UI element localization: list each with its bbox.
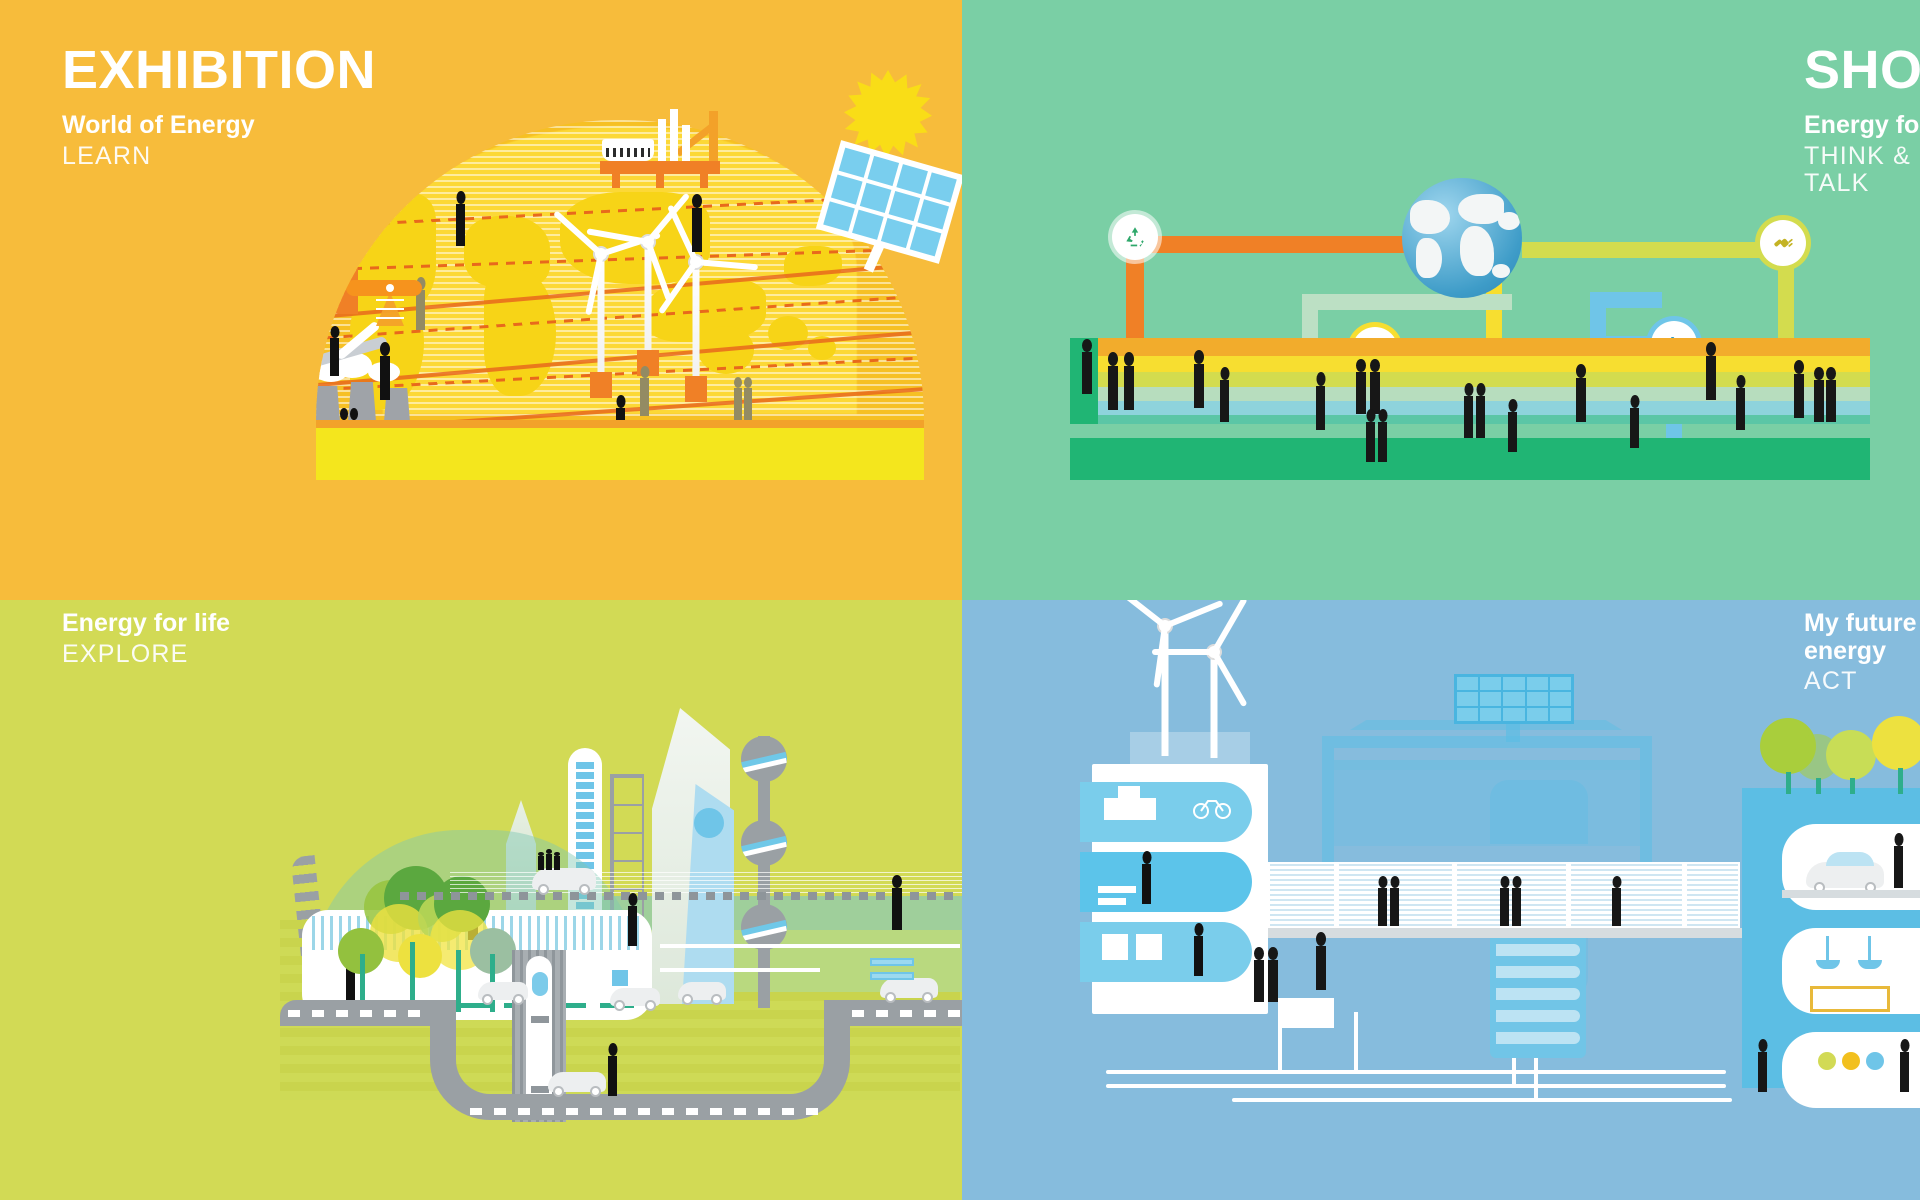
turbine-haze <box>1130 732 1250 764</box>
circuit-node <box>634 972 646 984</box>
resident-silhouette <box>1894 846 1903 888</box>
pendant-lamp <box>1868 936 1871 962</box>
audience-silhouette <box>1814 380 1824 422</box>
panel-ride[interactable]: RIDE Energy for life EXPLORE <box>0 600 962 1200</box>
visitor-silhouette <box>330 338 339 376</box>
audience-silhouette <box>1366 422 1375 462</box>
car-canopy <box>1826 852 1874 866</box>
circuit-node <box>870 958 914 966</box>
show-subtitle: Energy for all <box>1804 112 1920 140</box>
circuit-line <box>660 944 960 948</box>
circuit-line <box>660 968 820 972</box>
monorail-track <box>400 892 960 900</box>
pendant-lamp <box>1826 936 1829 962</box>
stair-step <box>1496 1010 1580 1022</box>
road-dashes <box>470 1108 820 1115</box>
recycling-icon <box>1112 214 1158 260</box>
audience-silhouette <box>1630 408 1639 448</box>
visitor-silhouette <box>416 290 425 330</box>
plug-icon <box>1760 220 1806 266</box>
pedestrian-silhouette <box>1512 888 1521 926</box>
passenger-silhouette <box>554 856 560 870</box>
glassware <box>1866 1052 1884 1070</box>
visitor-silhouette <box>628 906 637 946</box>
visitor-silhouette <box>692 208 702 252</box>
panel-exhibition[interactable]: EXHIBITION World of Energy LEARN <box>0 0 962 600</box>
tree-stem <box>1898 768 1903 794</box>
visitor-silhouette <box>640 378 649 416</box>
resident-silhouette <box>1142 864 1151 904</box>
page-title-show: SHOW <box>1804 42 1920 98</box>
show-text-block: SHOW Energy for all THINK & TALK <box>1804 42 1920 198</box>
power-cable-riser <box>1512 1058 1516 1088</box>
furniture-shape <box>1102 934 1128 960</box>
circuit-node <box>612 970 628 986</box>
ride-illustration <box>280 700 960 1100</box>
skyscraper-porthole <box>694 808 724 838</box>
passenger-silhouette <box>546 854 552 870</box>
audience-silhouette <box>1124 366 1134 410</box>
audience-silhouette <box>1356 372 1366 414</box>
audience-silhouette <box>1736 388 1745 430</box>
glass-frame <box>1322 736 1652 748</box>
audience-silhouette <box>1706 356 1716 400</box>
road-loop <box>430 1000 850 1120</box>
stage-base <box>1070 438 1870 480</box>
audience-silhouette <box>1826 380 1836 422</box>
ride-verb: EXPLORE <box>62 641 230 669</box>
furniture-shape <box>1104 798 1156 820</box>
visitor-silhouette <box>380 356 390 400</box>
tree-canopy <box>398 934 442 978</box>
dome-base-rim <box>316 420 924 428</box>
exhibition-subtitle: World of Energy <box>62 112 376 140</box>
exhibition-text-block: EXHIBITION World of Energy LEARN <box>62 42 376 170</box>
resident-silhouette <box>1900 1052 1909 1092</box>
power-cable-riser <box>1534 1058 1538 1098</box>
power-cable-riser <box>1278 1020 1282 1074</box>
glassware <box>1842 1052 1860 1070</box>
exhibition-verb: LEARN <box>62 143 376 171</box>
audience-silhouette <box>1476 396 1485 438</box>
bridge-deck <box>1268 928 1754 938</box>
tree-stem <box>1850 778 1855 794</box>
solar-mast <box>1506 724 1520 742</box>
game-illustration <box>1082 600 1920 1200</box>
pearl-node <box>741 736 787 782</box>
exhibition-illustration <box>300 60 940 480</box>
audience-silhouette <box>1316 386 1325 430</box>
wind-turbine <box>578 248 624 398</box>
panel-game[interactable]: GAME My future energy ACT <box>962 600 1920 1200</box>
visitor-silhouette <box>616 408 625 420</box>
hover-car <box>678 982 726 1000</box>
elevator-window <box>532 972 548 996</box>
bridge-post <box>1334 862 1339 928</box>
furniture-shape <box>1098 886 1136 893</box>
hover-car <box>478 982 528 1000</box>
resident-silhouette <box>1316 946 1326 990</box>
game-text-block: GAME My future energy ACT <box>1804 600 1920 696</box>
resident-silhouette <box>1254 960 1264 1002</box>
furniture-shape <box>1136 934 1162 960</box>
audience-silhouette <box>1108 366 1118 410</box>
garage-floor <box>1782 890 1920 898</box>
wind-turbine <box>676 256 716 402</box>
pipe-pale <box>1302 294 1512 310</box>
furniture-shape <box>1118 786 1140 800</box>
glass-pod <box>1490 780 1588 844</box>
game-subtitle: My future energy <box>1804 610 1920 665</box>
power-cable <box>1232 1098 1732 1102</box>
stair-step <box>1496 988 1580 1000</box>
resident-silhouette <box>1194 936 1203 976</box>
show-verb: THINK & TALK <box>1804 143 1920 198</box>
ride-text-block: RIDE Energy for life EXPLORE <box>62 600 230 668</box>
hover-car <box>610 988 660 1006</box>
solar-panel <box>1454 674 1574 724</box>
tree-stem <box>1816 778 1821 794</box>
pipe-yellowgreen <box>1522 242 1794 258</box>
passenger-silhouette <box>538 856 544 870</box>
hover-car <box>548 1072 606 1092</box>
pedestrian-silhouette <box>1500 888 1509 926</box>
pedestrian-silhouette <box>1378 888 1387 926</box>
visitor-silhouette <box>734 388 742 420</box>
pedestrian-silhouette <box>1612 888 1621 926</box>
visitor-silhouette <box>744 388 752 420</box>
power-cable <box>1106 1084 1726 1088</box>
pearl-node <box>741 820 787 866</box>
resident-silhouette <box>1758 1052 1767 1092</box>
visitor-silhouette <box>892 888 902 930</box>
tree-stem <box>1786 772 1791 794</box>
furniture-shape <box>1098 898 1126 905</box>
audience-silhouette <box>1576 378 1586 422</box>
rooftop-tree <box>1872 716 1920 770</box>
audience-silhouette <box>1194 364 1204 408</box>
stair-step <box>1496 944 1580 956</box>
road-dashes <box>288 1010 438 1017</box>
bridge-post <box>1452 862 1457 928</box>
glass-body <box>1334 770 1640 846</box>
glass-frame <box>1334 760 1640 770</box>
junction-box <box>1278 998 1334 1028</box>
glassware <box>1818 1052 1836 1070</box>
audience-silhouette <box>1370 372 1380 414</box>
monorail-haze <box>450 872 962 894</box>
bridge-post <box>1682 862 1687 928</box>
audience-silhouette <box>1378 422 1387 462</box>
road-dashes <box>852 1010 962 1017</box>
pedestrian-silhouette <box>1390 888 1399 926</box>
power-cable <box>1106 1070 1726 1074</box>
circuit-node <box>870 972 914 980</box>
audience-silhouette <box>1508 412 1517 452</box>
rooftop-tree <box>1826 730 1876 780</box>
visitor-silhouette <box>456 204 465 246</box>
offshore-oil-rig <box>600 116 720 188</box>
show-illustration <box>1070 180 1870 480</box>
dome-base <box>316 428 924 480</box>
page-title-exhibition: EXHIBITION <box>62 42 376 98</box>
audience-silhouette <box>1220 380 1229 422</box>
stair-step <box>1496 1032 1580 1044</box>
resident-silhouette <box>1268 960 1278 1002</box>
monorail-pod <box>532 868 596 890</box>
globe-icon <box>1402 178 1522 298</box>
audience-silhouette <box>1794 374 1804 418</box>
ride-subtitle: Energy for life <box>62 610 230 638</box>
stair-step <box>1496 966 1580 978</box>
audience-silhouette <box>1464 396 1473 438</box>
poster-grid: EXHIBITION World of Energy LEARN <box>0 0 1920 1200</box>
hover-car <box>880 978 938 998</box>
audience-silhouette <box>1082 352 1092 394</box>
game-verb: ACT <box>1804 668 1920 696</box>
bicycle-icon <box>1192 794 1232 825</box>
visitor-silhouette <box>608 1056 617 1096</box>
table-frame <box>1810 986 1890 1012</box>
bridge-post <box>1566 862 1571 928</box>
power-cable-riser <box>1354 1012 1358 1074</box>
panel-show[interactable]: SHOW Energy for all THINK & TALK <box>962 0 1920 600</box>
oil-pump-jack <box>324 264 416 328</box>
visitor-silhouette <box>316 270 321 310</box>
